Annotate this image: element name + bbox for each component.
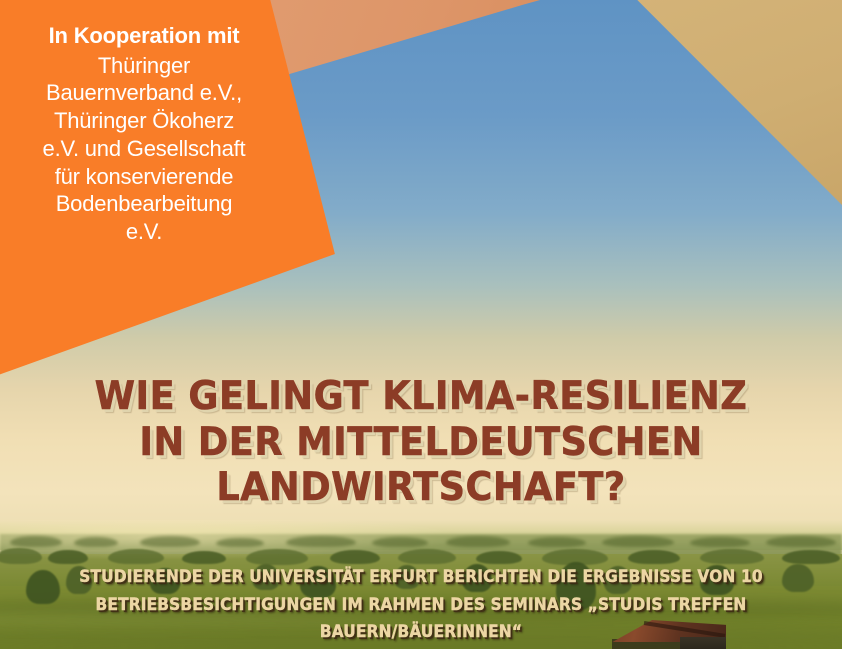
cooperation-heading: In Kooperation mit bbox=[0, 22, 288, 50]
cooperation-block: In Kooperation mit Thüringer Bauernverba… bbox=[0, 22, 288, 246]
tree-clump bbox=[48, 550, 88, 564]
cooperation-line-1: Thüringer bbox=[0, 52, 288, 80]
tree-clump bbox=[628, 550, 680, 564]
tree-clump bbox=[108, 549, 164, 564]
cooperation-line-6: Bodenbearbeitung bbox=[0, 190, 288, 218]
tree-clump bbox=[10, 536, 62, 547]
tree-clump bbox=[700, 549, 764, 564]
tree-clump bbox=[74, 537, 118, 547]
headline-line-1: Wie gelingt Klima-Resilienz bbox=[25, 374, 816, 420]
tree-clump bbox=[782, 550, 840, 564]
tree-clump bbox=[216, 538, 264, 547]
subtitle-line-2: Betriebsbesichtigungen im Rahmen des Sem… bbox=[74, 591, 768, 619]
cooperation-line-4: e.V. und Gesellschaft bbox=[0, 135, 288, 163]
tree-clump bbox=[398, 549, 456, 564]
tree-clump bbox=[782, 564, 814, 592]
tree-clump bbox=[446, 536, 510, 547]
headline-line-3: Landwirtschaft? bbox=[25, 465, 816, 511]
tree-clump bbox=[0, 548, 42, 564]
tree-clump bbox=[528, 537, 586, 547]
tree-clump bbox=[690, 537, 750, 547]
tree-clump bbox=[286, 536, 356, 547]
poster-subtitle: Studierende der Universität Erfurt beric… bbox=[74, 563, 768, 646]
poster-canvas: In Kooperation mit Thüringer Bauernverba… bbox=[0, 0, 842, 649]
tree-clump bbox=[140, 536, 200, 547]
cooperation-line-7: e.V. bbox=[0, 218, 288, 246]
tree-clump bbox=[602, 536, 674, 547]
tree-clump bbox=[26, 570, 60, 604]
subtitle-line-3: Bauern/Bäuerinnen“ bbox=[74, 618, 768, 646]
headline-line-2: in der mitteldeutschen bbox=[25, 420, 816, 466]
cooperation-line-3: Thüringer Ökoherz bbox=[0, 107, 288, 135]
tree-clump bbox=[330, 550, 380, 564]
subtitle-line-1: Studierende der Universität Erfurt beric… bbox=[74, 563, 768, 591]
tree-clump bbox=[372, 537, 428, 547]
cooperation-line-5: für konservierende bbox=[0, 163, 288, 191]
tree-clump bbox=[766, 536, 836, 547]
poster-headline: Wie gelingt Klima-Resilienz in der mitte… bbox=[25, 374, 816, 511]
cooperation-line-2: Bauernverband e.V., bbox=[0, 79, 288, 107]
